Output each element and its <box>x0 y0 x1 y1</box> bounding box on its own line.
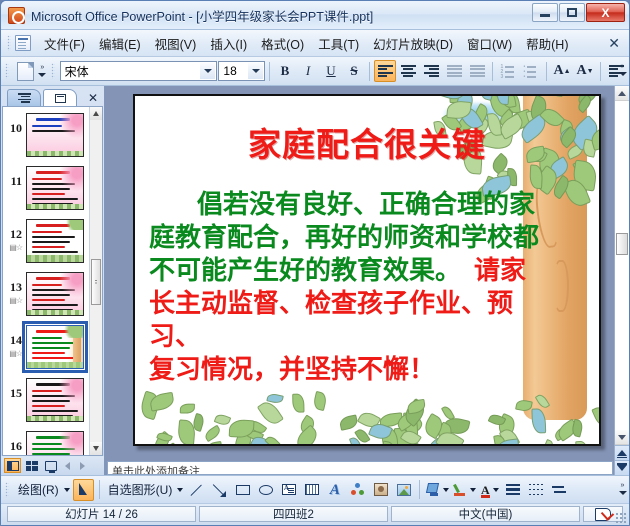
scroll-thumb[interactable] <box>616 233 628 255</box>
drawbar-overflow-icon[interactable]: » <box>617 478 628 500</box>
normal-view-icon <box>7 461 19 471</box>
select-arrow-button[interactable] <box>73 479 94 501</box>
slide-thumbnail-10[interactable]: 10 <box>3 111 89 164</box>
vertical-text-box-icon <box>305 484 319 495</box>
thumbnail-body-line <box>32 231 62 233</box>
font-name-dropdown-icon[interactable] <box>200 63 215 79</box>
thumbnail-preview[interactable] <box>26 378 84 422</box>
thumbnail-preview[interactable] <box>26 325 84 369</box>
justify-icon <box>447 65 462 78</box>
thumbnail-corner-graphic <box>63 220 83 230</box>
rectangle-icon <box>236 485 250 495</box>
draw-menu-label: 绘图(R) <box>16 481 61 498</box>
slide-show-view-button[interactable] <box>42 458 59 473</box>
align-center-button[interactable] <box>397 60 419 82</box>
thumbnail-number-label: 14 <box>10 334 22 347</box>
leaf-shape <box>463 94 488 95</box>
wordart-icon: A <box>330 483 340 497</box>
drawing-toolbar: 绘图(R) 自选图形(U) A A » <box>1 475 629 503</box>
slide-thumbnail-16[interactable]: 16 <box>3 429 89 455</box>
thumbnail-body-line <box>32 251 78 253</box>
leaf-shape <box>597 94 601 107</box>
spellcheck-icon <box>595 508 612 521</box>
align-right-icon <box>424 65 439 78</box>
thumbnail-body-line <box>32 178 62 180</box>
leaf-shape <box>484 94 505 100</box>
toolbar-grip-2[interactable] <box>51 63 55 79</box>
document-menu-icon[interactable] <box>15 35 31 51</box>
leaf-shape <box>499 94 526 95</box>
thumbnail-number-label: 11 <box>11 175 22 188</box>
new-document-icon[interactable] <box>14 60 36 82</box>
underline-button[interactable]: U <box>320 60 342 82</box>
thumbnail-preview[interactable] <box>26 219 84 263</box>
line-color-caret-icon[interactable] <box>470 488 476 492</box>
menu-format[interactable]: 格式(O) <box>254 30 311 57</box>
menu-tools[interactable]: 工具(T) <box>311 30 366 57</box>
thumbnail-grass-graphic <box>27 204 83 209</box>
slide-vertical-scrollbar[interactable] <box>614 86 629 475</box>
thumbnail-number: 12▤☆ <box>6 217 26 254</box>
drawbar-separator-1 <box>99 480 100 499</box>
leaf-shape <box>531 408 546 434</box>
status-bar: 幻灯片 14 / 26 四四班2 中文(中国) <box>1 503 629 525</box>
thumbnail-blossom-graphic <box>59 432 83 455</box>
diagram-icon <box>351 483 365 496</box>
slide-thumbnail-15[interactable]: 15 <box>3 376 89 429</box>
thumbnail-litter-graphic <box>27 255 83 262</box>
thumbnail-preview[interactable] <box>26 166 84 210</box>
arrow-style-button[interactable] <box>548 479 569 501</box>
thumbnail-blossom-graphic <box>59 379 83 405</box>
toolbar-overflow-2-icon[interactable]: » <box>617 59 628 81</box>
font-size-value: 18 <box>223 64 236 78</box>
work-area: ✕ 101112▤☆13▤☆14▤☆151617 <box>1 86 629 475</box>
font-color-button[interactable]: A <box>479 479 500 501</box>
bulleted-list-icon: ••• <box>524 65 539 78</box>
leaf-shape <box>456 94 485 96</box>
bold-button[interactable]: B <box>274 60 296 82</box>
menubar-grip[interactable] <box>7 35 11 51</box>
leaf-shape <box>489 94 506 95</box>
menu-window[interactable]: 窗口(W) <box>460 30 519 57</box>
thumbnail-body-line <box>32 236 75 238</box>
decrease-font-size-button[interactable]: A▼ <box>574 60 596 82</box>
thumbnail-grass-graphic <box>27 310 83 315</box>
design-template-name[interactable]: 四四班2 <box>199 506 388 522</box>
thumbnail-body-line <box>32 304 78 306</box>
line-color-icon <box>453 483 467 496</box>
thumbnail-number-label: 10 <box>10 122 22 135</box>
thumbnail-body-line <box>32 342 75 344</box>
slide-sorter-view-button[interactable] <box>23 458 40 473</box>
thumbnail-body-line <box>32 299 65 301</box>
thumbnail-scroll-up-icon[interactable] <box>90 107 102 120</box>
thumbnail-number: 14▤☆ <box>6 323 26 360</box>
slide-edit-area: 家庭配合很关键 倡若没有良好、正确合理的家庭教育配合，再好的师资和学校都不可能产… <box>105 86 629 475</box>
justify-button[interactable] <box>443 60 465 82</box>
thumbnail-number: 16 <box>6 429 26 453</box>
align-left-icon <box>378 65 393 78</box>
arrow-icon <box>213 483 227 497</box>
align-right-button[interactable] <box>420 60 442 82</box>
view-buttons-bar <box>1 456 104 475</box>
menu-file[interactable]: 文件(F) <box>37 30 92 57</box>
toolbar-separator-1 <box>269 62 270 81</box>
drawbar-separator-2 <box>419 480 420 499</box>
increase-font-size-button[interactable]: A▲ <box>551 60 573 82</box>
align-left-button[interactable] <box>374 60 396 82</box>
thumbnail-body-line <box>32 390 62 392</box>
language-indicator[interactable]: 中文(中国) <box>391 506 580 522</box>
draw-menu-caret-icon <box>64 488 70 492</box>
vertical-text-box-button[interactable] <box>301 479 322 501</box>
picture-icon <box>397 484 411 496</box>
menu-insert[interactable]: 插入(I) <box>203 30 254 57</box>
slide-body-line-4: 长主动监督、检查孩子作业、预习、 <box>149 289 513 351</box>
thumbnail-number-label: 12 <box>10 228 22 241</box>
insert-wordart-button[interactable]: A <box>324 479 345 501</box>
slide-body-line-1: 庭教育配合，再好的师资和学校都 <box>149 223 539 252</box>
leaf-shape <box>339 414 359 430</box>
dash-style-button[interactable] <box>525 479 546 501</box>
line-spacing-icon <box>470 65 485 78</box>
arrow-style-icon <box>552 484 566 495</box>
normal-view-button[interactable] <box>4 458 21 473</box>
italic-button[interactable]: I <box>297 60 319 82</box>
insert-picture-button[interactable] <box>393 479 414 501</box>
animation-indicator-icon: ▤☆ <box>9 241 22 254</box>
thumbnail-number-label: 16 <box>10 440 22 453</box>
animation-indicator-icon: ▤☆ <box>9 294 22 307</box>
line-spacing-button[interactable] <box>466 60 488 82</box>
thumbnail-number: 13▤☆ <box>6 270 26 307</box>
slide-thumbnail-14[interactable]: 14▤☆ <box>3 323 89 376</box>
shadow-button[interactable]: S <box>343 60 365 82</box>
outline-tab-icon <box>18 93 31 103</box>
thumbnail-body-line <box>32 193 65 195</box>
autoshapes-caret-icon <box>177 488 183 492</box>
hscroll-right-icon[interactable] <box>76 458 89 473</box>
menu-help[interactable]: 帮助(H) <box>519 30 575 57</box>
thumbnail-body-line <box>32 284 62 286</box>
slide-body-line-0: 倡若没有良好、正确合理的家 <box>149 190 535 219</box>
next-slide-button[interactable] <box>615 460 629 475</box>
arrow-tool-button[interactable] <box>209 479 230 501</box>
fill-color-button[interactable] <box>425 479 450 501</box>
thumbnail-number: 15 <box>6 376 26 400</box>
thumbnail-body-line <box>32 352 65 354</box>
slide-body-line-2: 不可能产生好的教育效果。 <box>149 256 461 285</box>
oval-tool-button[interactable] <box>255 479 276 501</box>
font-size-combobox[interactable]: 18 <box>218 61 265 81</box>
leaf-shape <box>478 94 498 101</box>
thumbnail-blossom-graphic <box>59 167 83 193</box>
toolbar-overflow-1-icon[interactable]: » <box>37 60 48 82</box>
toolbar-separator-3 <box>492 62 493 81</box>
slides-tab-icon <box>55 94 66 103</box>
numbered-list-button[interactable]: 123 <box>497 60 519 82</box>
thumbnail-canopy-graphic <box>61 326 83 338</box>
resize-grip[interactable] <box>615 512 627 524</box>
thumbnail-blossom-graphic <box>59 273 83 299</box>
draw-menu-button[interactable]: 绘图(R) <box>15 479 71 501</box>
scroll-track[interactable] <box>615 101 629 430</box>
minimize-button[interactable] <box>532 3 558 22</box>
leaf-shape <box>496 168 516 187</box>
leaf-shape <box>600 94 601 95</box>
slide-title[interactable]: 家庭配合很关键 <box>135 118 599 166</box>
notes-pane[interactable]: 单击此处添加备注 <box>107 461 613 475</box>
thumbnail-list: 101112▤☆13▤☆14▤☆151617 <box>3 107 89 455</box>
window-title: Microsoft Office PowerPoint - [小学四年级家长会P… <box>31 6 373 25</box>
scroll-up-icon[interactable] <box>615 86 629 101</box>
toolbar-grip-1[interactable] <box>5 63 9 79</box>
slide-sorter-icon <box>26 461 38 471</box>
align-center-icon <box>401 65 416 78</box>
text-box-button[interactable] <box>278 479 299 501</box>
title-bar: Microsoft Office PowerPoint - [小学四年级家长会P… <box>1 1 629 30</box>
leaf-shape <box>203 424 223 442</box>
line-color-button[interactable] <box>452 479 477 501</box>
line-tool-button[interactable] <box>186 479 207 501</box>
drawbar-grip-1[interactable] <box>5 482 9 498</box>
outline-tab[interactable] <box>7 89 41 106</box>
toolbar-separator-4 <box>546 62 547 81</box>
thumbnail-preview[interactable] <box>26 113 84 157</box>
font-name-value: 宋体 <box>65 63 89 80</box>
slide-body-line-3: 请家 <box>461 256 526 285</box>
scroll-down-icon[interactable] <box>615 430 629 445</box>
select-arrow-icon <box>79 483 88 496</box>
slide-body-line-5: 复习情况，并坚持不懈！ <box>149 355 435 384</box>
toolbar-separator-5 <box>600 62 601 81</box>
formatting-toolbar: » 宋体 18 B I U S <box>1 57 629 86</box>
fallen-leaves-graphic <box>135 392 599 446</box>
bulleted-list-button[interactable]: ••• <box>520 60 542 82</box>
text-box-icon <box>282 484 296 495</box>
thumbnail-body-line <box>32 405 65 407</box>
slides-tab[interactable] <box>43 89 77 106</box>
powerpoint-window: Microsoft Office PowerPoint - [小学四年级家长会P… <box>0 0 630 526</box>
thumbnail-blossom-graphic <box>59 114 83 140</box>
fill-color-caret-icon[interactable] <box>443 488 449 492</box>
toolbar-separator-2 <box>369 62 370 81</box>
rectangle-tool-button[interactable] <box>232 479 253 501</box>
leaf-shape <box>591 404 601 429</box>
close-document-icon[interactable]: ✕ <box>608 35 620 52</box>
line-icon <box>190 483 204 497</box>
thumbnail-scrollbar[interactable] <box>89 107 102 455</box>
thumbnail-body-line <box>32 198 78 200</box>
insert-diagram-button[interactable] <box>347 479 368 501</box>
leaf-shape <box>575 440 588 446</box>
powerpoint-icon <box>8 7 25 24</box>
thumbnail-scroll-thumb[interactable] <box>91 259 101 305</box>
thumbnail-scroll-down-icon[interactable] <box>90 442 102 455</box>
slide-canvas-wrapper: 家庭配合很关键 倡若没有良好、正确合理的家庭教育配合，再好的师资和学校都不可能产… <box>105 86 629 459</box>
slide-show-icon <box>45 461 57 471</box>
slide-canvas[interactable]: 家庭配合很关键 倡若没有良好、正确合理的家庭教育配合，再好的师资和学校都不可能产… <box>133 94 601 446</box>
font-color-icon: A <box>481 485 490 495</box>
maximize-button[interactable] <box>559 3 585 22</box>
slide-thumbnail-11[interactable]: 11 <box>3 164 89 217</box>
thumbnail-body-line <box>32 410 78 412</box>
font-size-dropdown-icon[interactable] <box>248 63 263 79</box>
menu-bar: 文件(F) 编辑(E) 视图(V) 插入(I) 格式(O) 工具(T) 幻灯片放… <box>1 30 629 57</box>
font-name-combobox[interactable]: 宋体 <box>60 61 218 81</box>
close-button[interactable]: X <box>586 3 625 22</box>
thumbnail-body-line <box>32 443 62 445</box>
thumbnail-body-line <box>32 337 62 339</box>
line-style-icon <box>506 484 520 495</box>
slide-thumbnail-12[interactable]: 12▤☆ <box>3 217 89 270</box>
menu-edit[interactable]: 编辑(E) <box>92 30 148 57</box>
thumbnail-grass-graphic <box>27 416 83 421</box>
close-pane-icon[interactable]: ✕ <box>88 91 98 105</box>
menu-slideshow[interactable]: 幻灯片放映(D) <box>366 30 460 57</box>
thumbnail-body-line <box>32 241 70 243</box>
oval-icon <box>259 485 273 495</box>
thumbnail-preview[interactable] <box>26 272 84 316</box>
autoshapes-label: 自选图形(U) <box>106 481 175 498</box>
insert-clip-art-button[interactable] <box>370 479 391 501</box>
leaf-shape <box>515 398 532 411</box>
slide-body-text[interactable]: 倡若没有良好、正确合理的家庭教育配合，再好的师资和学校都不可能产生好的教育效果。… <box>149 188 541 386</box>
thumbnail-number: 11 <box>6 164 26 188</box>
thumbnail-number: 10 <box>6 111 26 135</box>
thumbnail-body-line <box>32 357 78 359</box>
animation-indicator-icon: ▤☆ <box>9 347 22 360</box>
slide-counter: 幻灯片 14 / 26 <box>7 506 196 522</box>
leaf-shape <box>292 424 321 446</box>
thumbnail-preview[interactable] <box>26 431 84 455</box>
fill-color-icon <box>426 483 440 496</box>
slide-thumbnail-13[interactable]: 13▤☆ <box>3 270 89 323</box>
thumbnail-number-label: 13 <box>10 281 22 294</box>
pane-tab-strip: ✕ <box>1 86 104 106</box>
thumbnail-body-line <box>32 347 70 349</box>
hscroll-left-icon[interactable] <box>61 458 74 473</box>
leaf-shape <box>264 435 280 446</box>
clip-art-icon <box>374 483 388 496</box>
thumbnail-number-label: 15 <box>10 387 22 400</box>
thumbnail-litter-graphic <box>27 362 83 368</box>
leaf-shape <box>541 439 555 446</box>
line-style-button[interactable] <box>502 479 523 501</box>
previous-slide-button[interactable] <box>615 445 629 460</box>
font-color-caret-icon[interactable] <box>493 488 499 492</box>
window-controls: X <box>532 3 625 22</box>
leaf-shape <box>180 404 195 414</box>
thumbnail-list-container: 101112▤☆13▤☆14▤☆151617 <box>2 106 103 456</box>
dash-style-icon <box>529 484 543 495</box>
leaf-shape <box>507 168 518 186</box>
menu-view[interactable]: 视图(V) <box>148 30 204 57</box>
leaf-shape <box>292 393 304 412</box>
numbered-list-icon: 123 <box>501 65 516 78</box>
thumbnail-body-line <box>32 246 65 248</box>
thumbnail-grass-graphic <box>27 151 83 156</box>
leaf-shape <box>600 94 601 102</box>
autoshapes-menu-button[interactable]: 自选图形(U) <box>105 479 185 501</box>
slides-outline-pane: ✕ 101112▤☆13▤☆14▤☆151617 <box>1 86 105 475</box>
thumbnail-body-line <box>32 125 62 127</box>
leaf-shape <box>312 391 328 411</box>
